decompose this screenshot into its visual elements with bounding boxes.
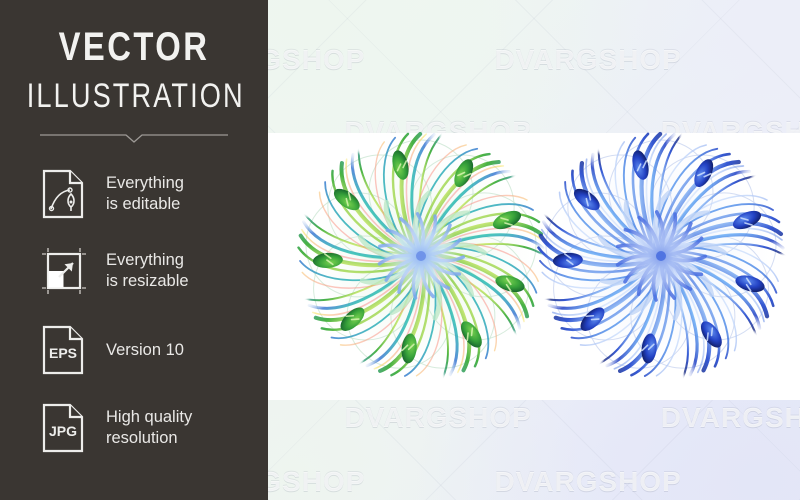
eps-file-icon: EPS	[40, 322, 86, 378]
watermark-text: DVARGSHOP	[268, 44, 490, 76]
feature-line-1: Version 10	[106, 340, 184, 361]
feature-line-2: is editable	[106, 194, 184, 215]
resize-arrow-icon	[40, 243, 86, 299]
watermark-text: DVARGSHOP	[661, 402, 800, 434]
watermark-text: DVARGSHOP	[268, 466, 490, 498]
info-sidebar: VECTOR ILLUSTRATION Every	[0, 0, 268, 500]
green-fractal-flower	[291, 126, 551, 386]
feature-item-editable: Everything is editable	[40, 166, 256, 222]
feature-item-resizable: Everything is resizable	[40, 243, 256, 299]
jpg-file-label: JPG	[49, 423, 77, 439]
document-pen-tool-icon	[40, 166, 86, 222]
watermark-text: DVARGSHOP	[494, 44, 800, 76]
feature-line-1: High quality	[106, 407, 192, 428]
feature-label-quality: High quality resolution	[106, 407, 192, 449]
brand-title-block: VECTOR ILLUSTRATION	[0, 26, 268, 118]
feature-line-1: Everything	[106, 250, 189, 271]
feature-line-1: Everything	[106, 173, 184, 194]
feature-item-quality: JPG High quality resolution	[40, 400, 256, 456]
feature-line-2: resolution	[106, 428, 192, 449]
watermark-text: DVARGSHOP	[494, 466, 800, 498]
watermark-row: DVARGSHOP DVARGSHOP DVARGSHOP DVARGSHOP	[268, 402, 800, 434]
feature-label-version: Version 10	[106, 340, 184, 361]
watermark-text: DVARGSHOP	[344, 402, 656, 434]
watermark-row: DVARGSHOP DVARGSHOP DVARGSHOP DVARGSHOP	[268, 44, 800, 76]
artwork-panel: DVARGSHOP DVARGSHOP DVARGSHOP DVARGSHOP …	[268, 0, 800, 500]
feature-line-2: is resizable	[106, 271, 189, 292]
watermark-text: DVARGSHOP	[268, 402, 340, 434]
feature-label-editable: Everything is editable	[106, 173, 184, 215]
chevron-down-divider-icon	[38, 131, 230, 145]
page-subtitle: ILLUSTRATION	[27, 74, 241, 118]
feature-label-resizable: Everything is resizable	[106, 250, 189, 292]
blue-fractal-flower	[531, 126, 791, 386]
poster-canvas: DVARGSHOP DVARGSHOP DVARGSHOP DVARGSHOP …	[0, 0, 800, 500]
page-title: VECTOR	[24, 26, 244, 68]
feature-item-version: EPS Version 10	[40, 322, 256, 378]
watermark-row: DVARGSHOP DVARGSHOP DVARGSHOP DVARGSHOP	[268, 466, 800, 498]
jpg-file-icon: JPG	[40, 400, 86, 456]
eps-file-label: EPS	[49, 345, 77, 361]
